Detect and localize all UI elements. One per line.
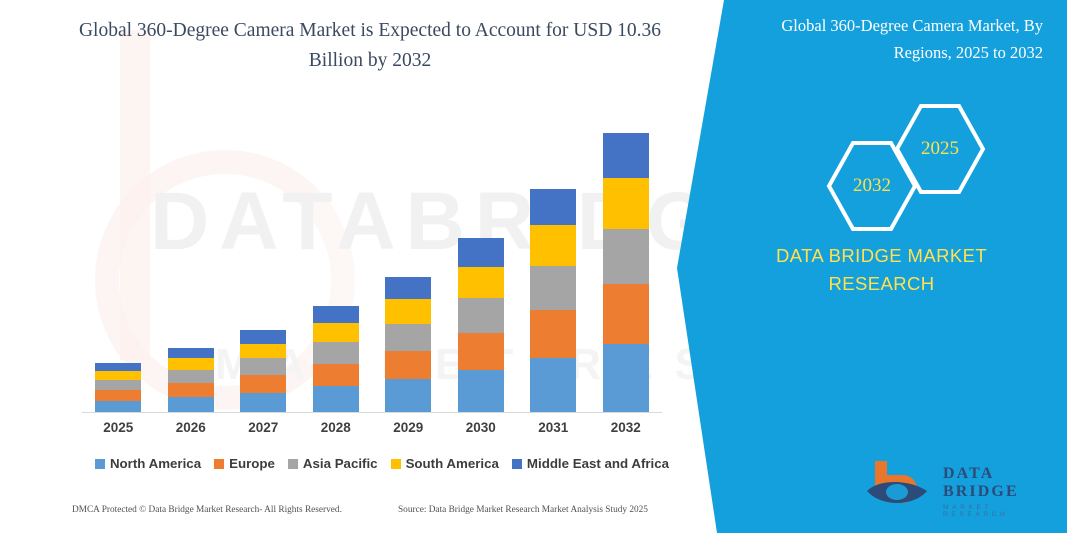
- bar-segment-asia-pacific[interactable]: [603, 229, 649, 284]
- bar-segment-asia-pacific[interactable]: [95, 380, 141, 390]
- x-axis-label-2026: 2026: [155, 420, 227, 435]
- bar-2030[interactable]: [458, 238, 504, 413]
- bar-2025[interactable]: [95, 363, 141, 413]
- footer-source: Source: Data Bridge Market Research Mark…: [398, 505, 648, 515]
- hexagon-label-start: 2032: [853, 175, 891, 197]
- bar-segment-north-america[interactable]: [603, 344, 649, 413]
- x-axis-label-2031: 2031: [517, 420, 589, 435]
- x-axis-label-2028: 2028: [300, 420, 372, 435]
- bar-segment-asia-pacific[interactable]: [240, 358, 286, 374]
- bar-segment-europe[interactable]: [458, 333, 504, 370]
- x-axis-label-2029: 2029: [372, 420, 444, 435]
- brand-name: DATA BRIDGE MARKET RESEARCH: [729, 242, 1034, 298]
- bar-segment-middle-east-and-africa[interactable]: [603, 133, 649, 178]
- bar-segment-south-america[interactable]: [95, 371, 141, 380]
- bar-segment-middle-east-and-africa[interactable]: [530, 189, 576, 225]
- bar-2028[interactable]: [313, 306, 359, 413]
- bar-2027[interactable]: [240, 330, 286, 413]
- bar-segment-europe[interactable]: [240, 375, 286, 393]
- hexagon-label-end: 2025: [921, 138, 959, 160]
- bar-segment-middle-east-and-africa[interactable]: [240, 330, 286, 343]
- bar-2032[interactable]: [603, 133, 649, 413]
- bar-segment-north-america[interactable]: [385, 379, 431, 413]
- bar-segment-europe[interactable]: [603, 284, 649, 343]
- chart-title: Global 360-Degree Camera Market is Expec…: [55, 16, 685, 76]
- bar-segment-europe[interactable]: [313, 364, 359, 387]
- x-axis-label-2032: 2032: [590, 420, 662, 435]
- bar-segment-europe[interactable]: [385, 351, 431, 380]
- chart-panel: Global 360-Degree Camera Market is Expec…: [0, 0, 720, 533]
- legend-item-middle-east-and-africa[interactable]: Middle East and Africa: [512, 456, 669, 471]
- bar-segment-middle-east-and-africa[interactable]: [385, 277, 431, 299]
- bar-segment-south-america[interactable]: [458, 267, 504, 298]
- bar-2031[interactable]: [530, 189, 576, 413]
- bar-segment-south-america[interactable]: [385, 299, 431, 323]
- footer-copyright: DMCA Protected © Data Bridge Market Rese…: [72, 505, 342, 515]
- bar-segment-north-america[interactable]: [458, 370, 504, 413]
- legend-swatch-icon: [288, 459, 298, 469]
- bar-segment-asia-pacific[interactable]: [530, 266, 576, 310]
- dbmr-logo-main: DATA BRIDGE: [943, 465, 1061, 501]
- legend-item-asia-pacific[interactable]: Asia Pacific: [288, 456, 378, 471]
- panel-title: Global 360-Degree Camera Market, By Regi…: [728, 12, 1043, 66]
- dbmr-logo-mark-icon: [865, 457, 937, 511]
- legend-label: Asia Pacific: [303, 456, 378, 471]
- bar-segment-asia-pacific[interactable]: [168, 370, 214, 383]
- legend-label: Europe: [229, 456, 275, 471]
- dbmr-logo-sub: MARKET RESEARCH: [943, 504, 1061, 518]
- bar-segment-middle-east-and-africa[interactable]: [168, 348, 214, 358]
- legend-swatch-icon: [512, 459, 522, 469]
- dbmr-logo-text: DATA BRIDGE MARKET RESEARCH: [943, 465, 1061, 518]
- bar-2029[interactable]: [385, 277, 431, 413]
- bar-segment-middle-east-and-africa[interactable]: [458, 238, 504, 266]
- hexagon-badge-2032: 2032: [823, 140, 921, 232]
- legend-item-europe[interactable]: Europe: [214, 456, 275, 471]
- bar-segment-south-america[interactable]: [313, 323, 359, 342]
- bar-segment-europe[interactable]: [168, 383, 214, 397]
- bar-segment-north-america[interactable]: [530, 358, 576, 413]
- x-axis-line: [82, 412, 662, 413]
- legend-swatch-icon: [214, 459, 224, 469]
- legend-label: North America: [110, 456, 201, 471]
- bar-segment-north-america[interactable]: [240, 393, 286, 413]
- legend-swatch-icon: [391, 459, 401, 469]
- bar-segment-middle-east-and-africa[interactable]: [95, 363, 141, 371]
- legend-swatch-icon: [95, 459, 105, 469]
- legend-label: Middle East and Africa: [527, 456, 669, 471]
- bar-segment-europe[interactable]: [530, 310, 576, 358]
- bar-segment-asia-pacific[interactable]: [385, 324, 431, 351]
- bar-segment-south-america[interactable]: [240, 344, 286, 359]
- dbmr-logo: DATA BRIDGE MARKET RESEARCH: [851, 453, 1061, 515]
- bar-segment-south-america[interactable]: [603, 178, 649, 228]
- bar-segment-south-america[interactable]: [168, 358, 214, 370]
- bar-segment-asia-pacific[interactable]: [458, 298, 504, 332]
- legend-item-south-america[interactable]: South America: [391, 456, 499, 471]
- legend-label: South America: [406, 456, 499, 471]
- bar-segment-north-america[interactable]: [313, 386, 359, 413]
- bar-2026[interactable]: [168, 348, 214, 413]
- bar-segment-north-america[interactable]: [168, 397, 214, 413]
- chart-legend: North AmericaEuropeAsia PacificSouth Ame…: [82, 456, 682, 471]
- bar-segment-asia-pacific[interactable]: [313, 342, 359, 363]
- bar-segment-south-america[interactable]: [530, 225, 576, 265]
- chart-plot-area: [82, 100, 662, 413]
- right-info-panel: Global 360-Degree Camera Market, By Regi…: [677, 0, 1067, 533]
- bar-segment-europe[interactable]: [95, 390, 141, 401]
- legend-item-north-america[interactable]: North America: [95, 456, 201, 471]
- bar-segment-middle-east-and-africa[interactable]: [313, 306, 359, 323]
- x-axis-label-2030: 2030: [445, 420, 517, 435]
- x-axis-labels: 20252026202720282029203020312032: [82, 420, 662, 444]
- x-axis-label-2025: 2025: [82, 420, 154, 435]
- x-axis-label-2027: 2027: [227, 420, 299, 435]
